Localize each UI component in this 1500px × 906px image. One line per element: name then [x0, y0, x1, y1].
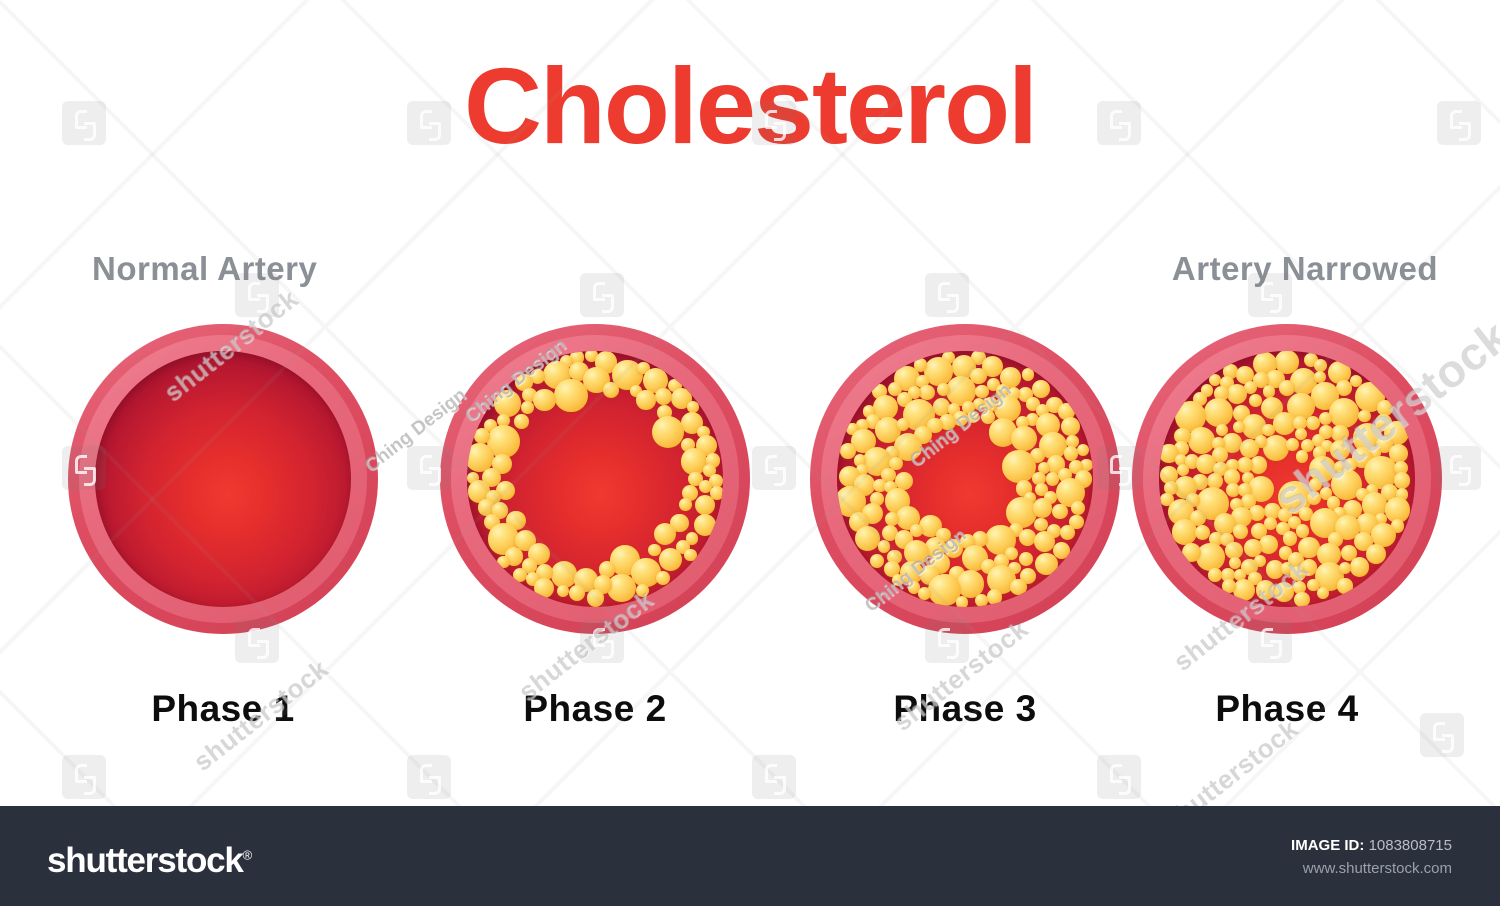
- shutterstock-logo-icon: [62, 755, 106, 799]
- cholesterol-particle: [551, 561, 577, 587]
- cholesterol-particle: [631, 558, 660, 587]
- cholesterol-particle: [1256, 580, 1275, 599]
- cholesterol-particle: [1279, 380, 1295, 396]
- cholesterol-particle: [897, 418, 909, 430]
- cholesterol-particle: [956, 596, 969, 607]
- cholesterol-particle: [1233, 524, 1248, 539]
- cholesterol-particle: [1227, 384, 1247, 404]
- cholesterol-particle: [533, 389, 555, 411]
- cholesterol-particle: [1366, 544, 1386, 564]
- cholesterol-particle: [1172, 519, 1198, 545]
- cholesterol-particle: [636, 584, 649, 597]
- illustration-canvas: Cholesterol Normal Artery Artery Narrowe…: [0, 0, 1500, 906]
- cholesterol-particle: [655, 388, 672, 405]
- cholesterol-particle: [603, 382, 619, 398]
- cholesterol-particle: [534, 578, 554, 598]
- page-title: Cholesterol: [0, 52, 1500, 160]
- cholesterol-particle: [967, 411, 980, 424]
- caption-artery-narrowed: Artery Narrowed: [1172, 250, 1438, 288]
- cholesterol-particle: [679, 498, 692, 511]
- cholesterol-particle: [695, 495, 715, 515]
- cholesterol-particle: [840, 443, 856, 459]
- cholesterol-particle: [1061, 417, 1080, 436]
- shutterstock-logo-icon: [752, 446, 796, 490]
- cholesterol-particle: [1290, 566, 1305, 581]
- cholesterol-particle: [1307, 491, 1322, 506]
- cholesterol-particle: [1011, 426, 1037, 452]
- cholesterol-particle: [684, 549, 697, 562]
- cholesterol-particle: [1204, 398, 1233, 427]
- artery-figure-2: [440, 324, 750, 634]
- cholesterol-particle: [1319, 412, 1332, 425]
- cholesterol-particle: [1222, 579, 1236, 593]
- cholesterol-particle: [870, 554, 884, 568]
- image-id-label: IMAGE ID:: [1291, 837, 1364, 854]
- cholesterol-particle: [919, 385, 934, 400]
- shutterstock-logo-icon: [580, 273, 624, 317]
- cholesterol-particle: [656, 571, 670, 585]
- phase-label-1: Phase 1: [68, 688, 378, 730]
- footer-bar: shutterstock® IMAGE ID: 1083808715 www.s…: [0, 806, 1500, 906]
- cholesterol-particle: [1283, 531, 1298, 546]
- cholesterol-particle: [987, 589, 1002, 604]
- artery-figure-3: [810, 324, 1120, 634]
- cholesterol-particle: [1022, 368, 1034, 380]
- cholesterol-particle: [1077, 444, 1089, 456]
- cholesterol-particle: [892, 574, 904, 586]
- cholesterol-particle: [1358, 410, 1371, 423]
- cholesterol-particle: [1188, 427, 1215, 454]
- cholesterol-particle: [1019, 552, 1033, 566]
- cholesterol-particle: [1177, 464, 1189, 476]
- cholesterol-particle: [652, 416, 685, 449]
- image-id-line: IMAGE ID: 1083808715: [1291, 834, 1452, 857]
- phase-label-4: Phase 4: [1132, 688, 1442, 730]
- cholesterol-particle: [1286, 438, 1299, 451]
- cholesterol-particle: [1034, 531, 1055, 552]
- artery-lumen: [467, 351, 723, 607]
- cholesterol-particle: [521, 401, 534, 414]
- shutterstock-logo-icon: [752, 755, 796, 799]
- cholesterol-particle: [1259, 535, 1278, 554]
- cholesterol-particle: [1240, 439, 1259, 458]
- cholesterol-particle: [937, 383, 950, 396]
- footer-meta: IMAGE ID: 1083808715 www.shutterstock.co…: [1291, 834, 1452, 881]
- cholesterol-particle: [1296, 450, 1308, 462]
- cholesterol-particle: [659, 548, 683, 572]
- phase-label-2: Phase 2: [440, 688, 750, 730]
- cholesterol-particle: [1350, 557, 1369, 576]
- cholesterol-particle: [1339, 562, 1351, 574]
- shutterstock-wordmark: shutterstock®: [47, 841, 252, 881]
- artery-lumen: [837, 351, 1093, 607]
- cholesterol-particle: [1060, 525, 1075, 540]
- shutterstock-logo-icon: [407, 755, 451, 799]
- caption-normal-artery: Normal Artery: [92, 250, 317, 288]
- cholesterol-particle: [497, 556, 509, 568]
- cholesterol-particle: [1237, 457, 1253, 473]
- cholesterol-particle: [1196, 543, 1225, 572]
- cholesterol-particle: [1010, 579, 1026, 595]
- artery-figure-1: [68, 324, 378, 634]
- shutterstock-url-line: www.shutterstock.com: [1291, 857, 1452, 880]
- cholesterol-particle: [1032, 380, 1050, 398]
- cholesterol-particle: [1249, 394, 1262, 407]
- cholesterol-particle: [1035, 553, 1058, 576]
- cholesterol-particle: [1394, 472, 1411, 489]
- cholesterol-particle: [1229, 557, 1241, 569]
- cholesterol-particle: [1294, 592, 1310, 608]
- cholesterol-particle: [514, 414, 529, 429]
- image-id-value: 1083808715: [1369, 837, 1452, 854]
- cholesterol-particle: [1034, 518, 1047, 531]
- cholesterol-particle: [494, 390, 521, 417]
- cholesterol-particle: [587, 589, 605, 607]
- cholesterol-particle: [1195, 525, 1210, 540]
- cholesterol-particle: [513, 568, 528, 583]
- artery-lumen: [1159, 351, 1415, 607]
- cholesterol-particle: [554, 379, 588, 413]
- cholesterol-particle: [607, 574, 636, 603]
- artery-lumen: [95, 351, 351, 607]
- cholesterol-particle: [1064, 446, 1079, 461]
- cholesterol-particle: [1033, 498, 1052, 517]
- cholesterol-particle: [569, 585, 585, 601]
- cholesterol-particle: [1052, 504, 1068, 520]
- registered-mark: ®: [243, 847, 253, 862]
- cholesterol-particle: [1314, 371, 1327, 384]
- shutterstock-logo-icon: [925, 273, 969, 317]
- shutterstock-url[interactable]: www.shutterstock.com: [1303, 860, 1452, 877]
- phase-label-3: Phase 3: [810, 688, 1120, 730]
- cholesterol-particle: [1330, 440, 1350, 460]
- cholesterol-particle: [636, 390, 655, 409]
- cholesterol-particle: [1317, 587, 1329, 599]
- cholesterol-particle: [1208, 568, 1221, 581]
- cholesterol-particle: [1071, 501, 1085, 515]
- cholesterol-particle: [855, 526, 880, 551]
- shutterstock-logo-icon: [1437, 446, 1481, 490]
- cholesterol-particle: [557, 585, 569, 597]
- cholesterol-particle: [1233, 579, 1255, 601]
- cholesterol-particle: [918, 587, 931, 600]
- cholesterol-particle: [1263, 385, 1276, 398]
- cholesterol-particle: [975, 385, 989, 399]
- cholesterol-particle: [1329, 398, 1359, 428]
- cholesterol-particle: [648, 544, 660, 556]
- cholesterol-particle: [1006, 497, 1037, 528]
- shutterstock-logo-icon: [1097, 755, 1141, 799]
- cholesterol-particle: [1306, 416, 1321, 431]
- cholesterol-particle: [1296, 524, 1309, 537]
- cholesterol-particle: [1002, 450, 1036, 484]
- cholesterol-particle: [975, 594, 988, 607]
- cholesterol-particle: [1262, 424, 1274, 436]
- cholesterol-particle: [1274, 582, 1294, 602]
- shutterstock-wordmark-text: shutterstock: [47, 841, 243, 880]
- cholesterol-particle: [1337, 578, 1352, 593]
- cholesterol-particle: [694, 514, 716, 536]
- artery-figure-4: [1132, 324, 1442, 634]
- cholesterol-particle: [654, 523, 676, 545]
